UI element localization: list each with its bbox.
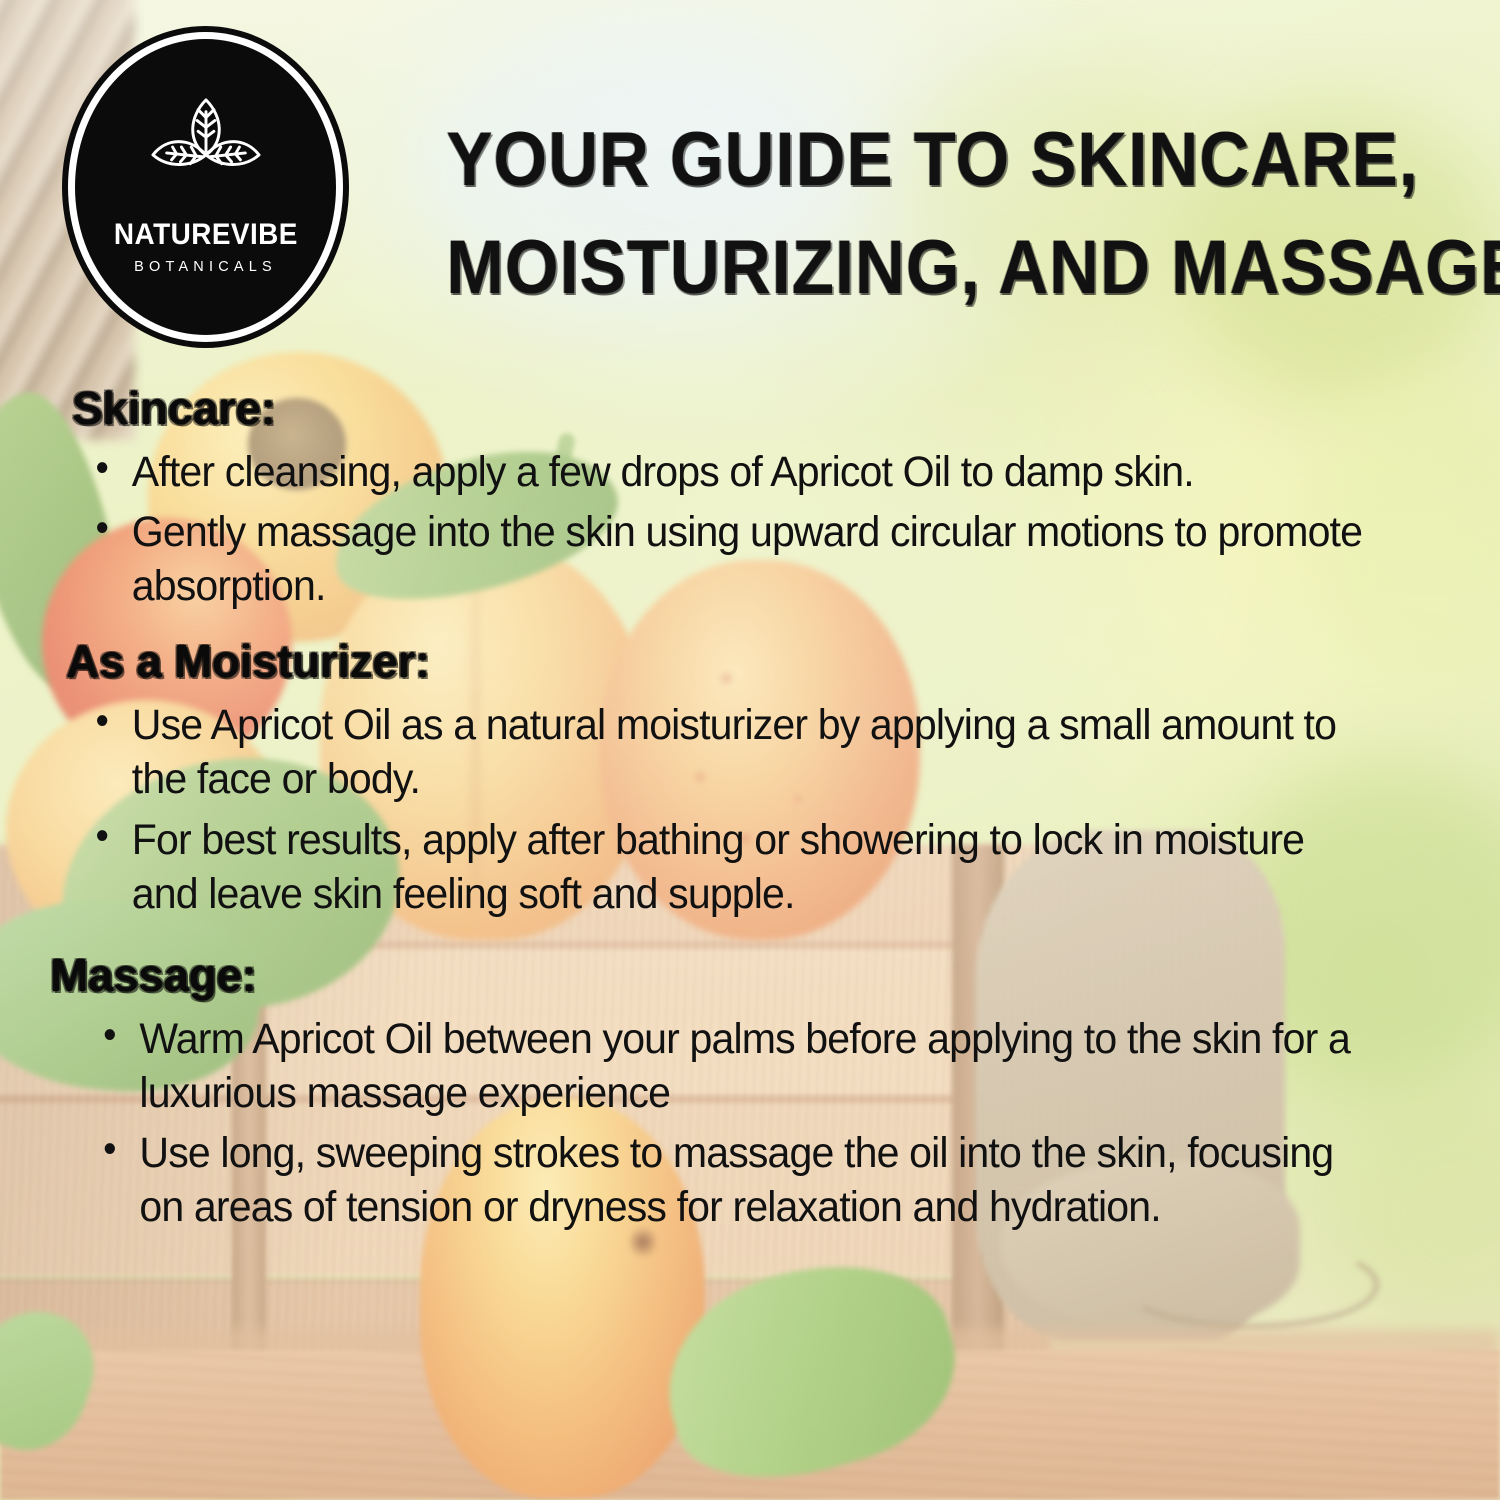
page-title: YOUR GUIDE TO SKINCARE, MOISTURIZING, AN…	[446, 106, 1383, 322]
section-massage: Massage: Warm Apricot Oil between your p…	[0, 949, 1500, 1235]
section-heading-skincare: Skincare:	[0, 382, 1500, 435]
bullet-list-moisturizer: Use Apricot Oil as a natural moisturizer…	[0, 698, 1500, 921]
list-item: For best results, apply after bathing or…	[0, 813, 1375, 921]
bullet-list-massage: Warm Apricot Oil between your palms befo…	[0, 1012, 1500, 1235]
section-skincare: Skincare: After cleansing, apply a few d…	[0, 382, 1500, 613]
section-heading-massage: Massage:	[0, 949, 1500, 1002]
list-item: Warm Apricot Oil between your palms befo…	[0, 1012, 1375, 1120]
list-item: Use Apricot Oil as a natural moisturizer…	[0, 698, 1375, 806]
guide-sections: Skincare: After cleansing, apply a few d…	[0, 382, 1500, 1241]
headline-line-1: YOUR GUIDE TO SKINCARE,	[446, 106, 1383, 214]
brand-logo-badge: NATUREVIBE BOTANICALS	[68, 32, 343, 342]
list-item: Use long, sweeping strokes to massage th…	[0, 1126, 1375, 1234]
brand-tagline: BOTANICALS	[134, 259, 277, 275]
list-item: Gently massage into the skin using upwar…	[0, 505, 1375, 613]
brand-name: NATUREVIBE	[114, 218, 298, 252]
section-heading-moisturizer: As a Moisturizer:	[0, 635, 1500, 688]
bullet-list-skincare: After cleansing, apply a few drops of Ap…	[0, 445, 1500, 614]
section-moisturizer: As a Moisturizer: Use Apricot Oil as a n…	[0, 635, 1500, 921]
headline-line-2: MOISTURIZING, AND MASSAGE	[446, 214, 1383, 322]
trillium-leaf-icon	[147, 94, 265, 206]
infographic-poster: NATUREVIBE BOTANICALS YOUR GUIDE TO SKIN…	[0, 0, 1500, 1500]
list-item: After cleansing, apply a few drops of Ap…	[0, 445, 1375, 499]
